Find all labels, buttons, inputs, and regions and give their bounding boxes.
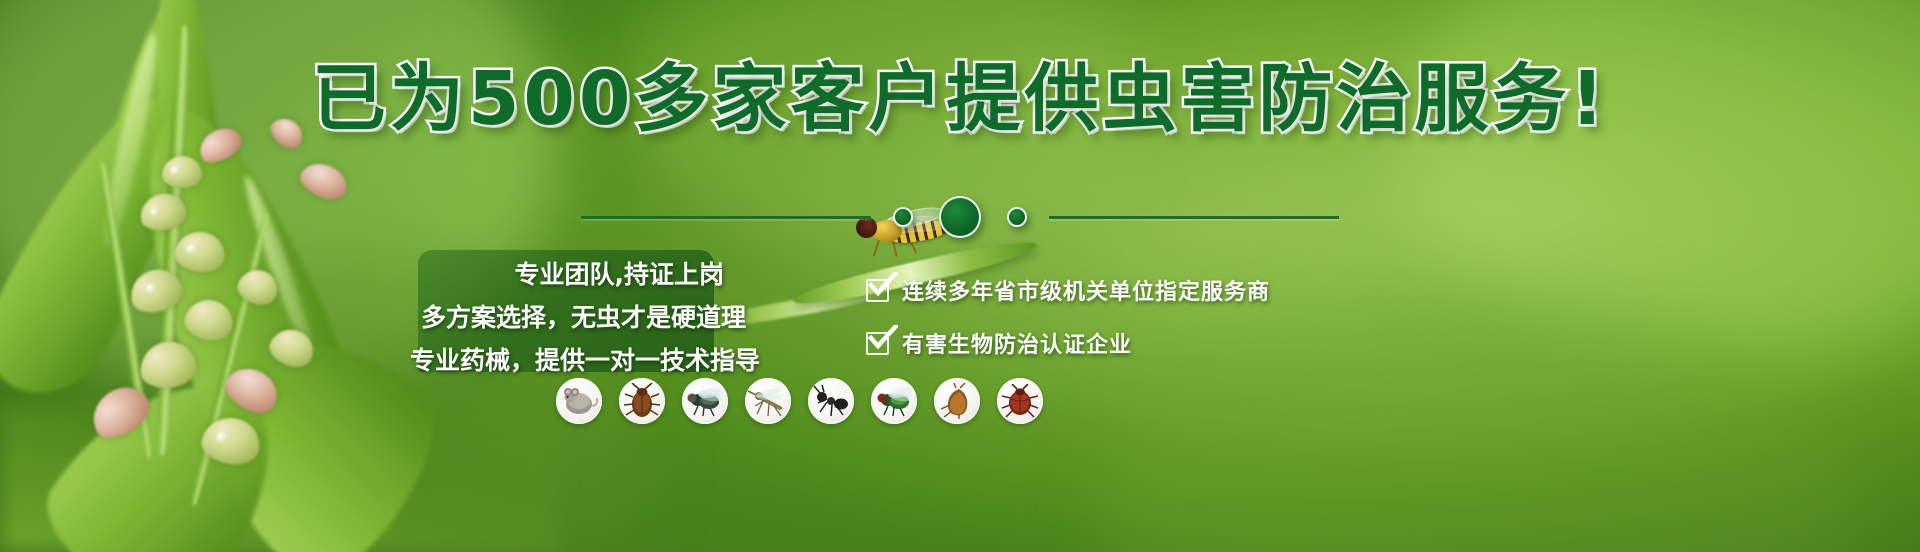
list-item: 有害生物防治认证企业 xyxy=(866,327,1270,359)
bullet-label: 连续多年省市级机关单位指定服务商 xyxy=(902,274,1270,306)
cockroach-icon[interactable] xyxy=(619,378,665,424)
bedbug-icon[interactable] xyxy=(997,378,1043,424)
checkbox-checked-icon xyxy=(866,332,889,355)
checkbox-checked-icon xyxy=(866,279,889,302)
list-item: 连续多年省市级机关单位指定服务商 xyxy=(866,274,1270,306)
blowfly-icon[interactable] xyxy=(871,378,917,424)
bullet-label: 有害生物防治认证企业 xyxy=(902,327,1132,359)
dot-large-icon xyxy=(939,196,981,238)
mosquito-icon[interactable] xyxy=(745,378,791,424)
features-panel-text: 专业团队,持证上岗 多方案选择，无虫才是硬道理 专业药械，提供一对一技术指导 xyxy=(340,262,760,373)
pest-type-icon-row xyxy=(556,378,1043,424)
dot-small-icon xyxy=(893,207,913,227)
banner-headline: 已为500多家客户提供虫害防治服务! xyxy=(0,62,1920,136)
horizontal-line-icon xyxy=(581,216,871,219)
fly-icon[interactable] xyxy=(682,378,728,424)
panel-line-3: 专业药械，提供一对一技术指导 xyxy=(340,348,760,373)
ant-icon[interactable] xyxy=(808,378,854,424)
panel-line-2: 多方案选择，无虫才是硬道理 xyxy=(340,305,760,330)
certification-bullet-list: 连续多年省市级机关单位指定服务商 有害生物防治认证企业 xyxy=(866,274,1270,359)
panel-line-1: 专业团队,持证上岗 xyxy=(340,262,760,287)
horizontal-line-icon xyxy=(1049,216,1339,219)
dot-small-icon xyxy=(1007,207,1027,227)
flea-icon[interactable] xyxy=(934,378,980,424)
mouse-icon[interactable] xyxy=(556,378,602,424)
pest-control-hero-banner: 已为500多家客户提供虫害防治服务! 专业团队,持证上岗 多方案选择，无虫才是硬… xyxy=(0,0,1920,552)
decorative-divider xyxy=(0,196,1920,238)
banner-headline-text: 已为500多家客户提供虫害防治服务! xyxy=(312,56,1608,142)
